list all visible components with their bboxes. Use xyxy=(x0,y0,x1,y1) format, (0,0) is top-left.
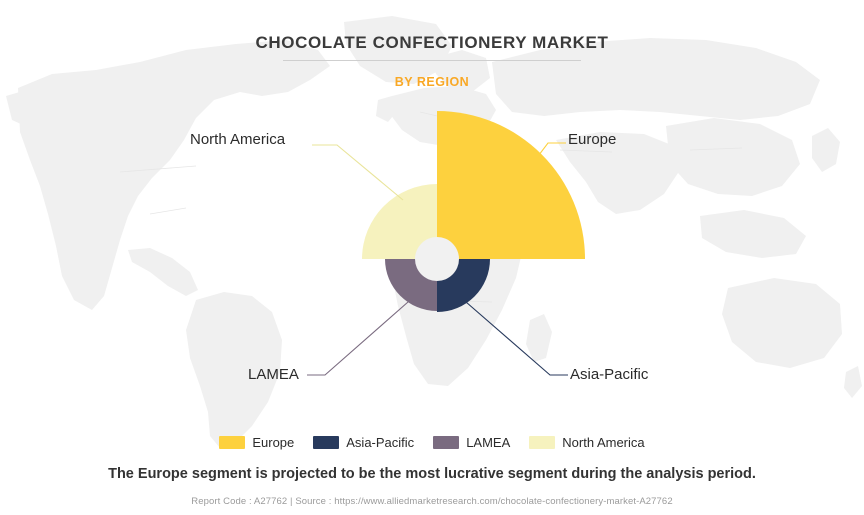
legend-swatch-north-america xyxy=(529,436,555,449)
legend-label-europe: Europe xyxy=(252,435,294,450)
slice-label-lamea: LAMEA xyxy=(248,366,299,383)
chart-caption: The Europe segment is projected to be th… xyxy=(0,466,864,482)
leader-line-lamea xyxy=(307,302,408,375)
legend-item-lamea[interactable]: LAMEA xyxy=(433,435,510,450)
title-divider xyxy=(283,60,581,61)
legend-swatch-lamea xyxy=(433,436,459,449)
page-subtitle: BY REGION xyxy=(0,75,864,89)
report-footer: Report Code : A27762 | Source : https://… xyxy=(0,496,864,507)
legend-item-europe[interactable]: Europe xyxy=(219,435,294,450)
slice-label-asia-pacific: Asia-Pacific xyxy=(570,366,648,383)
legend-label-lamea: LAMEA xyxy=(466,435,510,450)
slice-label-north-america: North America xyxy=(190,131,285,148)
legend-swatch-asia-pacific xyxy=(313,436,339,449)
chart-page: CHOCOLATE CONFECTIONERY MARKET BY REGION… xyxy=(0,0,864,515)
legend-item-asia-pacific[interactable]: Asia-Pacific xyxy=(313,435,414,450)
page-title: CHOCOLATE CONFECTIONERY MARKET xyxy=(0,33,864,53)
donut-hole xyxy=(415,237,459,281)
rose-donut-chart xyxy=(0,0,864,455)
chart-legend: Europe Asia-Pacific LAMEA North America xyxy=(0,435,864,450)
leader-line-north-america xyxy=(312,145,403,200)
slice-label-europe: Europe xyxy=(568,131,616,148)
legend-label-asia-pacific: Asia-Pacific xyxy=(346,435,414,450)
legend-swatch-europe xyxy=(219,436,245,449)
slice-europe[interactable] xyxy=(437,111,585,259)
leader-line-asia-pacific xyxy=(466,302,568,375)
legend-label-north-america: North America xyxy=(562,435,644,450)
legend-item-north-america[interactable]: North America xyxy=(529,435,644,450)
